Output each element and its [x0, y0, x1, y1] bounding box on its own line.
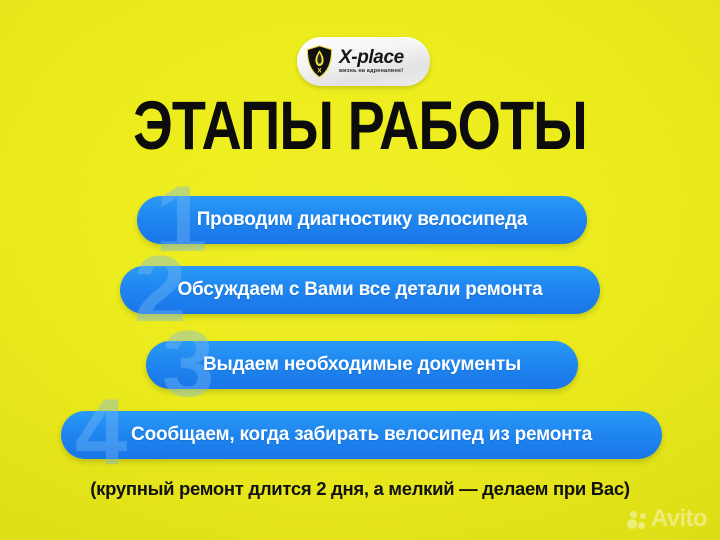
page-title: ЭТАПЫ РАБОТЫ: [25, 92, 695, 160]
step-item-4: 4 Сообщаем, когда забирать велосипед из …: [61, 411, 662, 459]
brand-logo-text: X-place жизнь на адреналине!: [339, 48, 404, 74]
step-label-2: Обсуждаем с Вами все детали ремонта: [177, 279, 542, 301]
avito-watermark: Avito: [627, 507, 707, 531]
step-item-2: 2 Обсуждаем с Вами все детали ремонта: [120, 266, 600, 314]
step-item-1: 1 Проводим диагностику велосипеда: [137, 196, 587, 244]
avito-dots-icon: [627, 509, 648, 530]
brand-logo: X X-place жизнь на адреналине!: [297, 37, 430, 86]
step-label-4: Сообщаем, когда забирать велосипед из ре…: [131, 424, 592, 446]
step-item-3: 3 Выдаем необходимые документы: [146, 341, 578, 389]
shield-flame-icon: X: [306, 45, 333, 78]
avito-brand-text: Avito: [651, 507, 707, 531]
footer-note: (крупный ремонт длится 2 дня, а мелкий —…: [0, 478, 720, 500]
promo-banner: X X-place жизнь на адреналине! ЭТАПЫ РАБ…: [0, 0, 720, 540]
brand-name: X-place: [339, 48, 404, 67]
svg-text:X: X: [317, 68, 322, 75]
brand-tagline: жизнь на адреналине!: [339, 69, 405, 74]
step-label-1: Проводим диагностику велосипеда: [197, 209, 528, 231]
step-label-3: Выдаем необходимые документы: [203, 354, 521, 376]
